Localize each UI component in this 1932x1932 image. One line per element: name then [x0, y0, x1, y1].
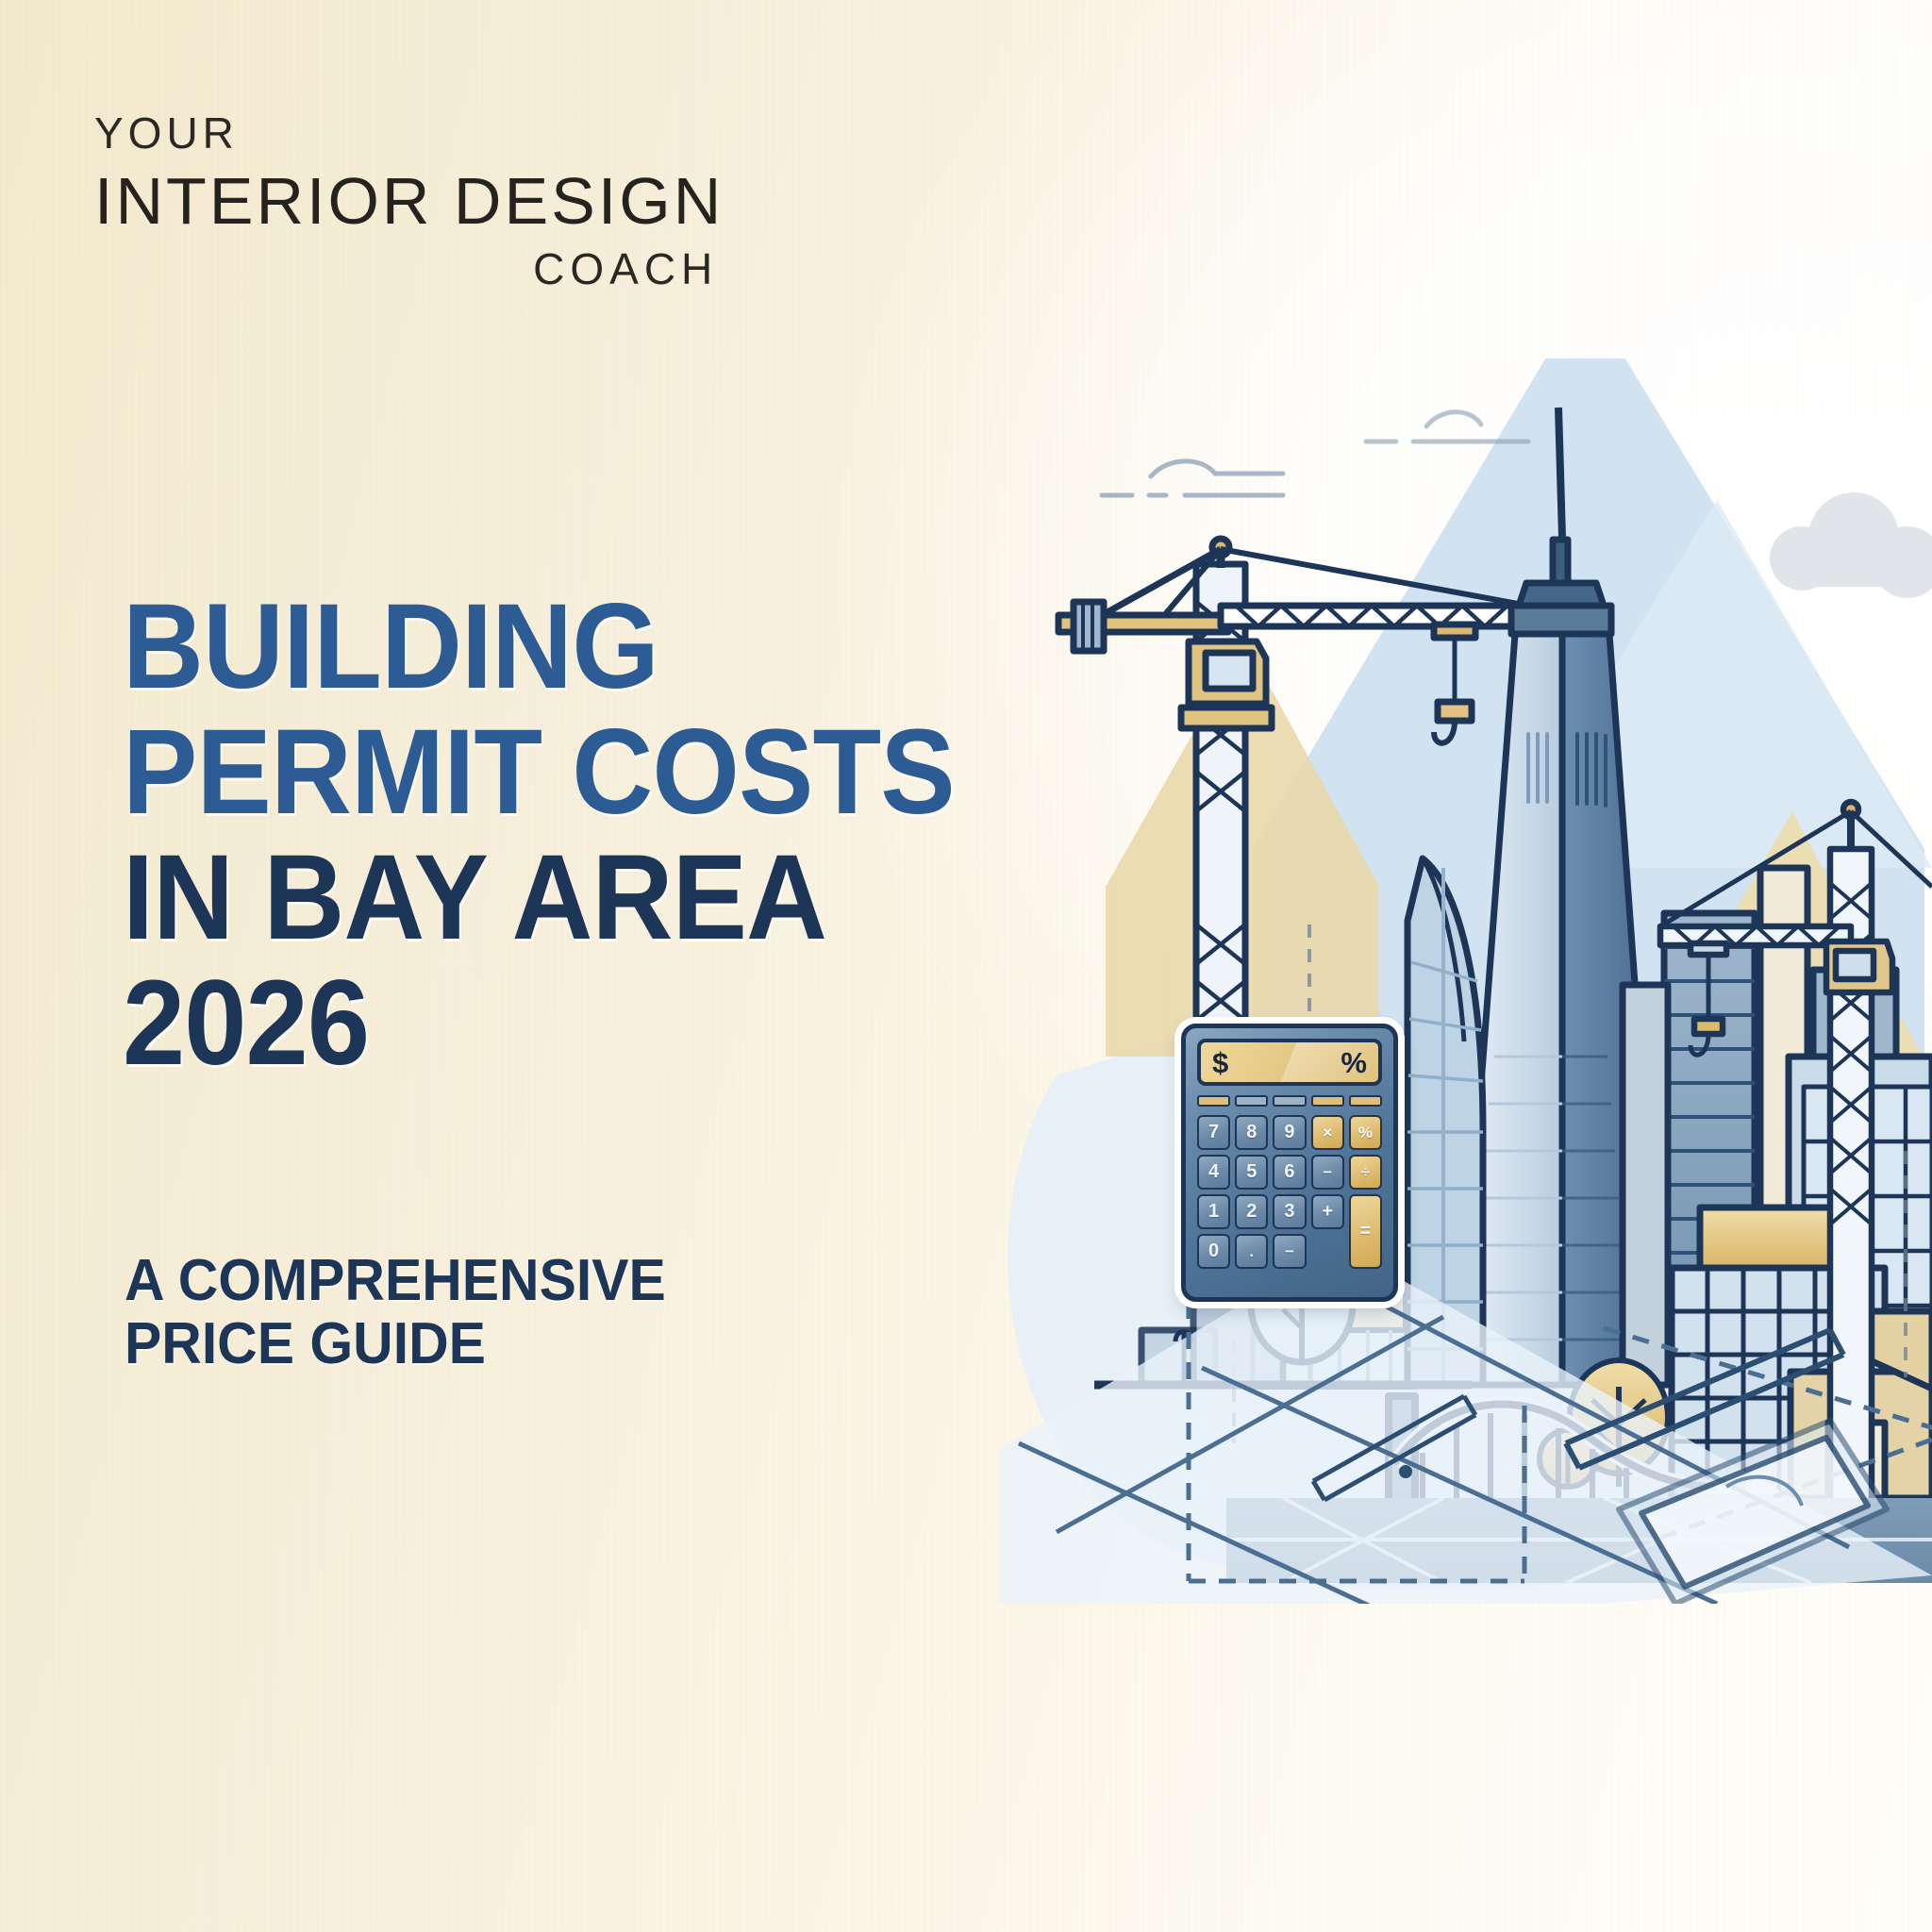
- calc-key-0[interactable]: 0: [1197, 1234, 1230, 1269]
- calculator-memory-key-4[interactable]: [1311, 1095, 1344, 1107]
- calc-key-equals[interactable]: =: [1349, 1194, 1382, 1269]
- calc-key-4[interactable]: 4: [1197, 1155, 1230, 1190]
- calc-key-7[interactable]: 7: [1197, 1115, 1230, 1150]
- cityscape-illustration: [1000, 358, 1932, 1604]
- calc-key-minus[interactable]: −: [1311, 1155, 1344, 1190]
- calc-key-2[interactable]: 2: [1235, 1194, 1268, 1229]
- brand-logo-line-interior-design: INTERIOR DESIGN: [94, 164, 724, 238]
- page-subtitle: A COMPREHENSIVE PRICE GUIDE: [125, 1250, 974, 1376]
- headline-line-4-year: 2026: [123, 966, 1018, 1082]
- brand-logo-line-coach: COACH: [94, 247, 724, 291]
- calc-key-multiply[interactable]: ×: [1311, 1115, 1344, 1150]
- subtitle-line-2: PRICE GUIDE: [125, 1313, 931, 1376]
- percent-sign-icon: %: [1341, 1048, 1367, 1077]
- calculator-display: $ %: [1197, 1039, 1382, 1086]
- poster-canvas: $ % 7 8 9 × % 4 5 6 − ÷ 1 2 3 + = 0: [0, 0, 1932, 1932]
- page-title: BUILDING PERMIT COSTS IN BAY AREA 2026: [123, 590, 1085, 1091]
- calc-key-divide[interactable]: ÷: [1349, 1155, 1382, 1190]
- calc-key-plus[interactable]: +: [1311, 1194, 1344, 1229]
- brand-logo: YOUR INTERIOR DESIGN COACH: [94, 111, 724, 291]
- calc-key-decimal[interactable]: .: [1235, 1234, 1268, 1269]
- calculator-memory-row: [1197, 1095, 1382, 1107]
- calculator-memory-key-2[interactable]: [1235, 1095, 1268, 1107]
- brand-logo-line-your: YOUR: [94, 111, 724, 155]
- dollar-sign-icon: $: [1212, 1048, 1228, 1077]
- headline-line-2: PERMIT COSTS: [123, 715, 1018, 831]
- calculator-memory-key-3[interactable]: [1273, 1095, 1306, 1107]
- calc-key-6[interactable]: 6: [1273, 1155, 1306, 1190]
- calc-key-5[interactable]: 5: [1235, 1155, 1268, 1190]
- calculator-memory-key-5[interactable]: [1349, 1095, 1382, 1107]
- calc-key-9[interactable]: 9: [1273, 1115, 1306, 1150]
- calculator-illustration: $ % 7 8 9 × % 4 5 6 − ÷ 1 2 3 + = 0: [1181, 1024, 1398, 1302]
- subtitle-line-1: A COMPREHENSIVE: [125, 1250, 931, 1313]
- calc-key-minus-alt[interactable]: −: [1273, 1234, 1306, 1269]
- illustration-svg: [1000, 358, 1932, 1604]
- calc-key-8[interactable]: 8: [1235, 1115, 1268, 1150]
- headline-line-1: BUILDING: [123, 590, 1018, 706]
- calc-key-3[interactable]: 3: [1273, 1194, 1306, 1229]
- calc-key-percent[interactable]: %: [1349, 1115, 1382, 1150]
- calculator-keypad: 7 8 9 × % 4 5 6 − ÷ 1 2 3 + = 0 . −: [1197, 1115, 1382, 1269]
- headline-line-3: IN BAY AREA: [123, 841, 1018, 957]
- calc-key-1[interactable]: 1: [1197, 1194, 1230, 1229]
- calculator-memory-key-1[interactable]: [1197, 1095, 1230, 1107]
